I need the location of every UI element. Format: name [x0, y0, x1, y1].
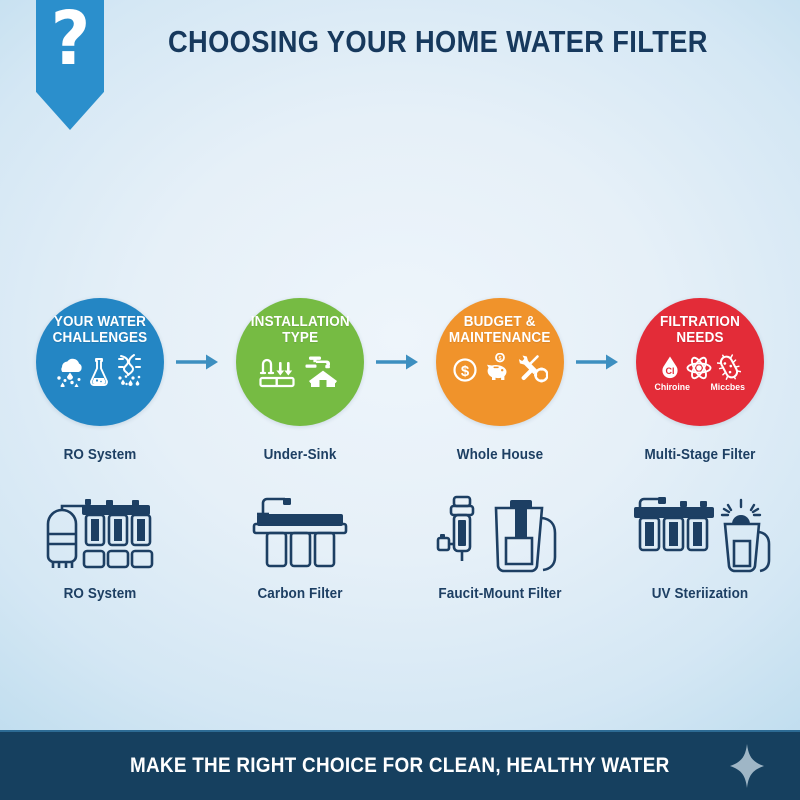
svg-text:Cl: Cl: [666, 366, 675, 376]
stage-icon-group: Cl: [659, 353, 741, 381]
stage-caption-3: Whole House: [407, 447, 593, 463]
chlorine-droplet-icon: Cl: [659, 355, 681, 381]
piggy-bank-icon: $: [483, 353, 513, 383]
svg-text:$: $: [499, 356, 502, 362]
question-mark-icon: ?: [50, 2, 90, 76]
stage-icon-group: $ $: [452, 353, 548, 383]
stage-icon-group: [258, 353, 343, 389]
product-caption-3: Faucit-Mount Filter: [407, 586, 593, 602]
product-caption-4: UV Steriization: [607, 586, 793, 602]
stage-caption-4: Multi-Stage Filter: [607, 447, 793, 463]
footer-text: MAKE THE RIGHT CHOICE FOR CLEAN, HEALTHY…: [130, 754, 670, 778]
stage-row: YOUR WATERCHALLENGES: [0, 294, 800, 430]
stage-icon-group: [54, 353, 146, 387]
product-caption-1: RO System: [7, 586, 193, 602]
page-title: CHOOSING YOUR HOME WATER FILTER: [168, 24, 696, 60]
stage-title: YOUR WATERCHALLENGES: [53, 314, 148, 346]
stage-caption-1: RO System: [7, 447, 193, 463]
rain-cloud-icon: [54, 353, 84, 387]
sediment-droplets-icon: [118, 376, 140, 387]
stage-title: FILTRATIONNEEDS: [660, 314, 740, 346]
product-cell-2: [200, 494, 400, 578]
stage-cell-2: INSTALLATIONTYPE: [200, 298, 400, 426]
under-sink-pipe-icon: [258, 355, 298, 389]
contaminant-icon: [114, 353, 146, 387]
flask-icon: [89, 357, 109, 387]
stage-cell-4: FILTRATIONNEEDS Cl: [600, 298, 800, 426]
faucet-mount-pitcher-icon: [432, 494, 568, 578]
stage-micro-labels: Chiroine Miccbes: [653, 382, 746, 393]
uv-sterilizer-pitcher-icon: [628, 494, 772, 578]
stage-circle-budget-maintenance[interactable]: BUDGET &MAINTENANCE $ $: [436, 298, 564, 426]
product-cell-4: [600, 494, 800, 578]
stage-circle-water-challenges[interactable]: YOUR WATERCHALLENGES: [36, 298, 164, 426]
micro-label-microbes: Miccbes: [711, 382, 746, 393]
four-point-star-icon: [730, 744, 764, 788]
faucet-house-icon: [303, 353, 343, 389]
svg-text:$: $: [461, 363, 470, 380]
stage-circle-installation-type[interactable]: INSTALLATIONTYPE: [236, 298, 364, 426]
down-arrow-icon: [276, 362, 292, 376]
product-caption-2: Carbon Filter: [207, 586, 393, 602]
stage-circle-filtration-needs[interactable]: FILTRATIONNEEDS Cl: [636, 298, 764, 426]
infographic-poster: ? CHOOSING YOUR HOME WATER FILTER YOUR W…: [0, 0, 800, 800]
wrench-gear-icon: [518, 353, 548, 383]
stage-title: BUDGET &MAINTENANCE: [449, 314, 551, 346]
footer-banner: MAKE THE RIGHT CHOICE FOR CLEAN, HEALTHY…: [0, 730, 800, 800]
product-caption-row: RO System Carbon Filter Faucit-Mount Fil…: [0, 586, 800, 602]
ro-system-icon: [36, 494, 164, 578]
product-cell-1: [0, 494, 200, 578]
product-row: [0, 492, 800, 578]
stage-caption-row: RO System Under-Sink Whole House Multi-S…: [0, 447, 800, 463]
stage-caption-2: Under-Sink: [207, 447, 393, 463]
uv-sun-icon: [722, 500, 760, 515]
stage-title: INSTALLATIONTYPE: [250, 314, 349, 346]
stage-cell-3: BUDGET &MAINTENANCE $ $: [400, 298, 600, 426]
product-cell-3: [400, 494, 600, 578]
carbon-filter-icon: [245, 494, 355, 578]
house-icon: [309, 371, 337, 387]
question-badge: ?: [36, 0, 104, 130]
stage-cell-1: YOUR WATERCHALLENGES: [0, 298, 200, 426]
micro-label-chlorine: Chiroine: [655, 382, 690, 393]
microbe-icon: [717, 353, 741, 381]
atom-icon: [686, 355, 712, 381]
faucet-icon: [305, 357, 330, 369]
dollar-coin-icon: $: [452, 355, 478, 383]
